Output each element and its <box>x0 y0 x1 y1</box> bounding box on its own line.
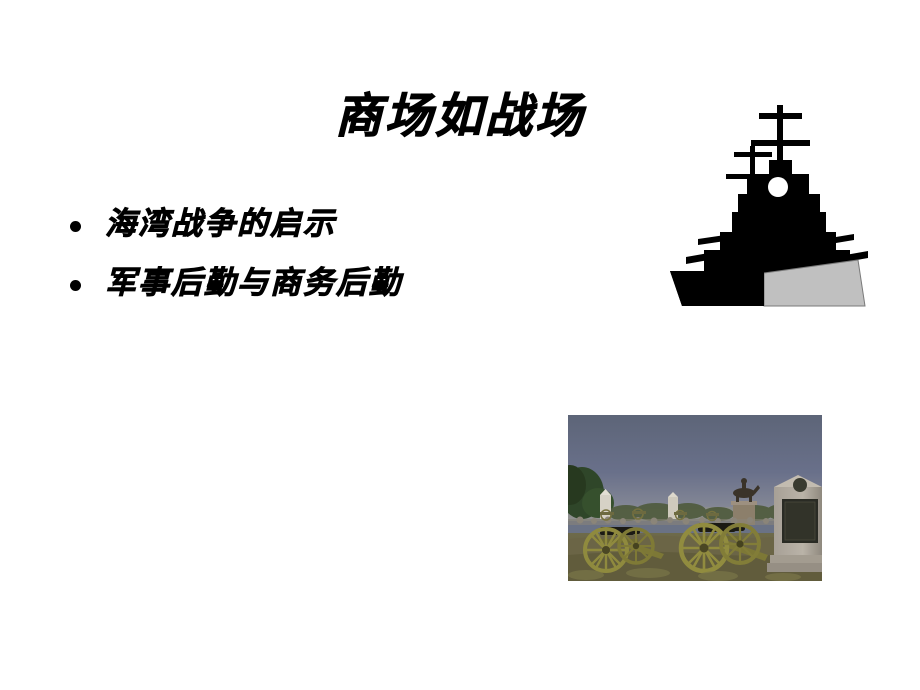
porthole-icon <box>768 177 788 197</box>
battleship-silhouette-icon <box>664 84 888 314</box>
bullet-item-label: 军事后勤与商务后勤 <box>105 264 402 303</box>
bullet-list: 海湾战争的启示 军事后勤与商务后勤 <box>70 205 590 323</box>
bullet-dot-icon <box>70 280 81 291</box>
list-item: 军事后勤与商务后勤 <box>70 264 590 303</box>
list-item: 海湾战争的启示 <box>70 205 590 244</box>
presentation-slide: 商场如战场 海湾战争的启示 军事后勤与商务后勤 <box>0 0 920 690</box>
bullet-item-label: 海湾战争的启示 <box>105 205 336 244</box>
bullet-dot-icon <box>70 221 81 232</box>
hull-black-overlay <box>670 271 764 306</box>
photo-granite-monument <box>767 475 822 572</box>
battlefield-photo <box>568 415 822 581</box>
battleship-superstructure <box>704 160 850 272</box>
slide-title: 商场如战场 <box>300 92 620 141</box>
